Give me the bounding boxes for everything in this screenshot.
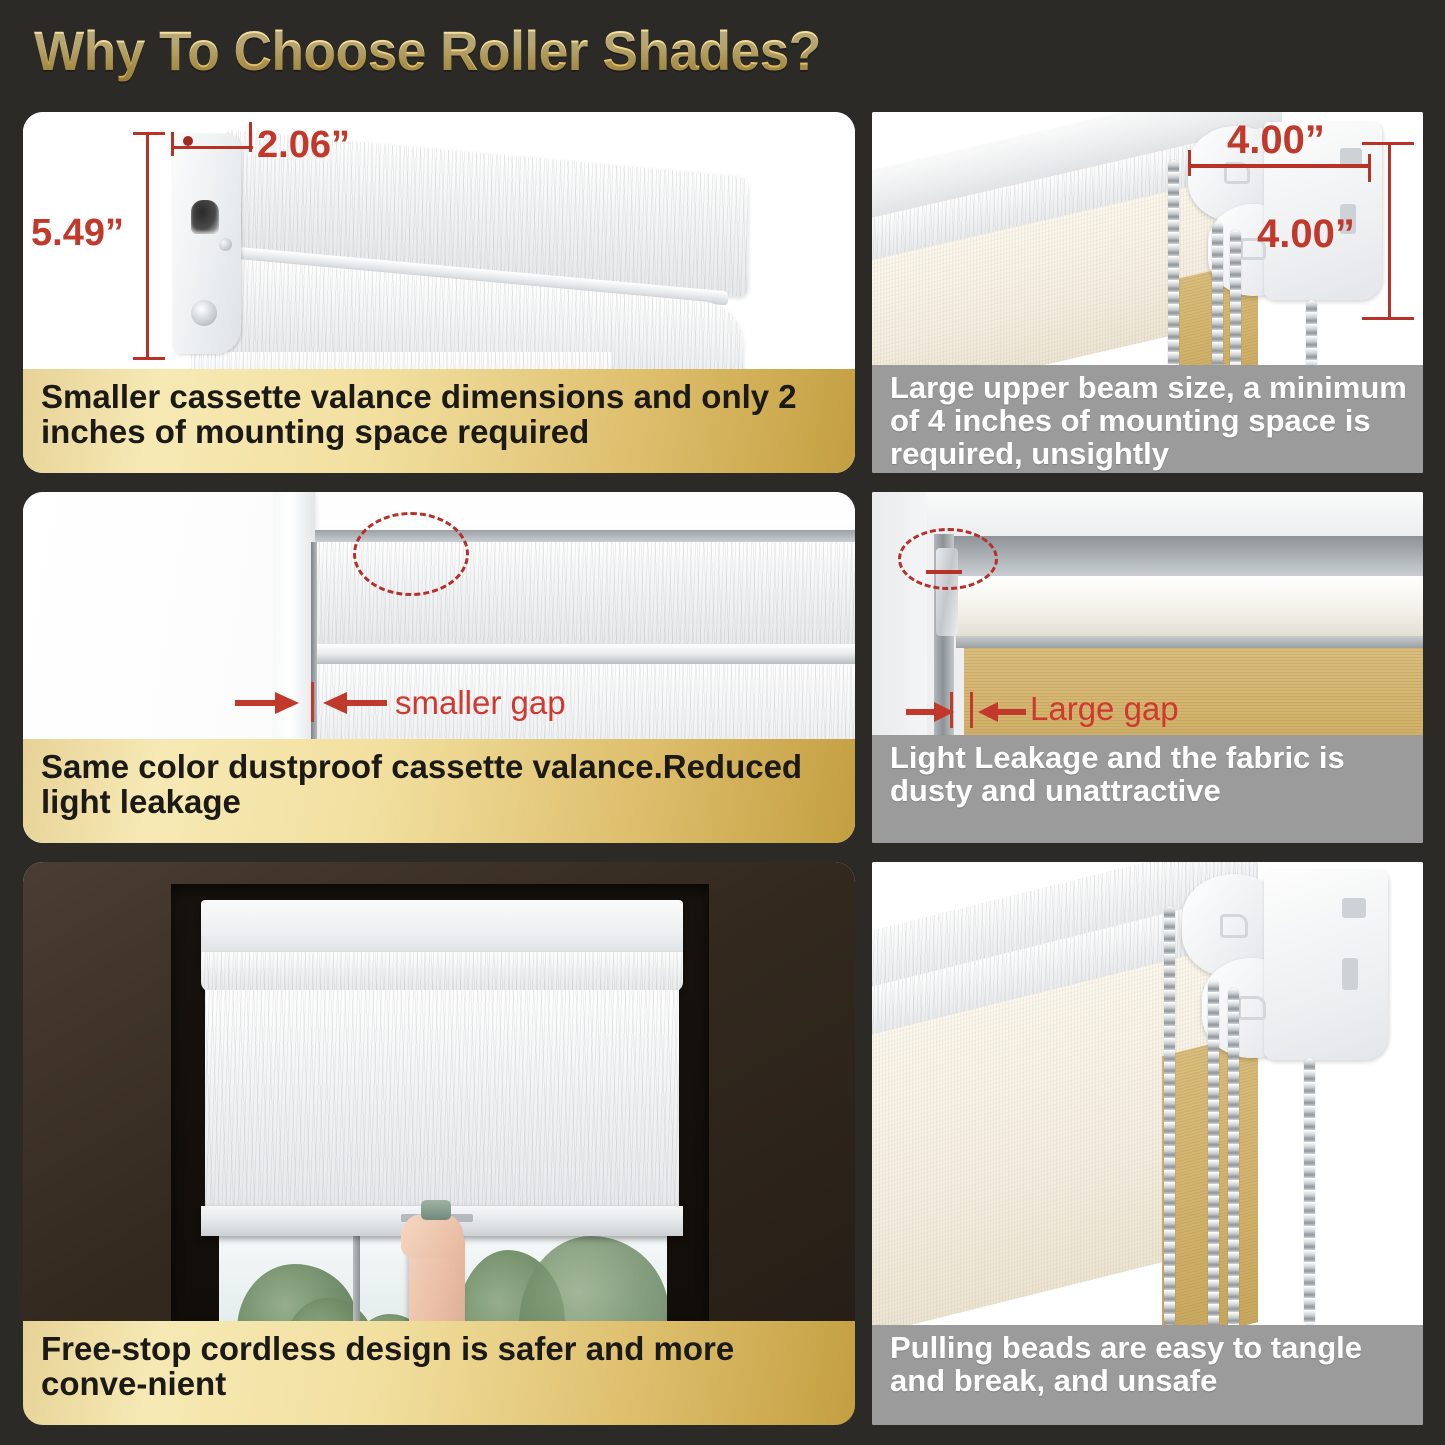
screw-icon — [219, 238, 232, 251]
leak-highlight-ellipse — [898, 528, 998, 590]
height-tick-bottom — [133, 357, 165, 360]
panel-6-card: Pulling beads are easy to tangle and bre… — [872, 862, 1423, 1425]
width-dimension-line — [171, 146, 253, 149]
panel-1-caption: Smaller cassette valance dimensions and … — [23, 369, 855, 473]
height-dimension-label: 5.49” — [31, 212, 124, 255]
panel-3-card: smaller gap Same color dustproof cassett… — [23, 492, 855, 843]
beam-height-tick-bottom — [1362, 317, 1414, 320]
bracket-pin-icon — [191, 300, 217, 326]
shade-fabric-panel — [205, 990, 679, 1210]
beam-height-tick-top — [1362, 142, 1414, 145]
head-rail-lip — [956, 636, 1423, 648]
beam-width-label: 4.00” — [1227, 118, 1325, 163]
beam-height-label: 4.00” — [1257, 212, 1355, 257]
panel-4-caption: Light Leakage and the fabric is dusty an… — [872, 735, 1423, 843]
hand-knuckles — [401, 1214, 463, 1258]
measure-origin-dot — [183, 136, 193, 146]
cassette-head-lip — [201, 952, 683, 992]
beam-height-dimension-line — [1388, 142, 1391, 320]
width-tick-left — [171, 132, 174, 156]
bead-chain-mid — [1208, 980, 1219, 1330]
gap-arrow-left-icon — [976, 700, 1026, 724]
valance-divider — [315, 644, 855, 664]
width-dimension-label: 2.06” — [257, 124, 350, 167]
bead-chain-right — [1304, 1058, 1315, 1326]
bracket-arrow-icon-upper — [1220, 914, 1248, 938]
gap-measure-line — [311, 682, 314, 722]
gap-arrow-right-icon — [906, 700, 956, 724]
gap-highlight-ellipse — [353, 512, 469, 596]
bracket-arrow-icon-lower — [1238, 996, 1266, 1020]
gap-arrow-left-icon — [321, 690, 387, 716]
height-tick-top — [133, 132, 165, 135]
top-width-dimension-line — [1188, 164, 1370, 168]
panel-5-card: Free-stop cordless design is safer and m… — [23, 862, 855, 1425]
bead-chain-left — [1164, 906, 1175, 1326]
gap-label: smaller gap — [395, 684, 566, 722]
panel-2-card: 4.00” 4.00” Large upper beam size, a min… — [872, 112, 1423, 473]
panel-1-card: 2.06” 5.49” Smaller cassette valance dim… — [23, 112, 855, 473]
height-dimension-line — [146, 134, 149, 360]
wall-mount-plate — [1264, 870, 1388, 1060]
panel-grid: 2.06” 5.49” Smaller cassette valance dim… — [0, 0, 1445, 1445]
panel-4-card: Large gap Light Leakage and the fabric i… — [872, 492, 1423, 843]
panel-2-caption: Large upper beam size, a minimum of 4 in… — [872, 365, 1423, 473]
panel-3-caption: Same color dustproof cassette valance.Re… — [23, 739, 855, 843]
panel-5-caption: Free-stop cordless design is safer and m… — [23, 1321, 855, 1425]
mount-slot-lower-icon — [1342, 958, 1358, 990]
cassette-head-box — [201, 900, 683, 956]
gap-measure-line-b — [970, 692, 973, 728]
bracket-slot-icon — [191, 200, 219, 234]
mount-slot-upper-icon — [1342, 898, 1366, 918]
hand-grip-point — [421, 1200, 451, 1220]
top-width-tick-left — [1188, 150, 1191, 176]
top-width-tick-right — [1368, 154, 1371, 182]
roller-head-rail — [956, 576, 1423, 638]
panel-6-caption: Pulling beads are easy to tangle and bre… — [872, 1325, 1423, 1425]
bead-chain-mid2 — [1228, 988, 1239, 1330]
gap-arrow-right-icon — [235, 690, 301, 716]
bead-chain-left — [1168, 160, 1179, 395]
gap-label: Large gap — [1030, 690, 1179, 728]
infographic-page: Why To Choose Roller Shades? 2.06” — [0, 0, 1445, 1445]
